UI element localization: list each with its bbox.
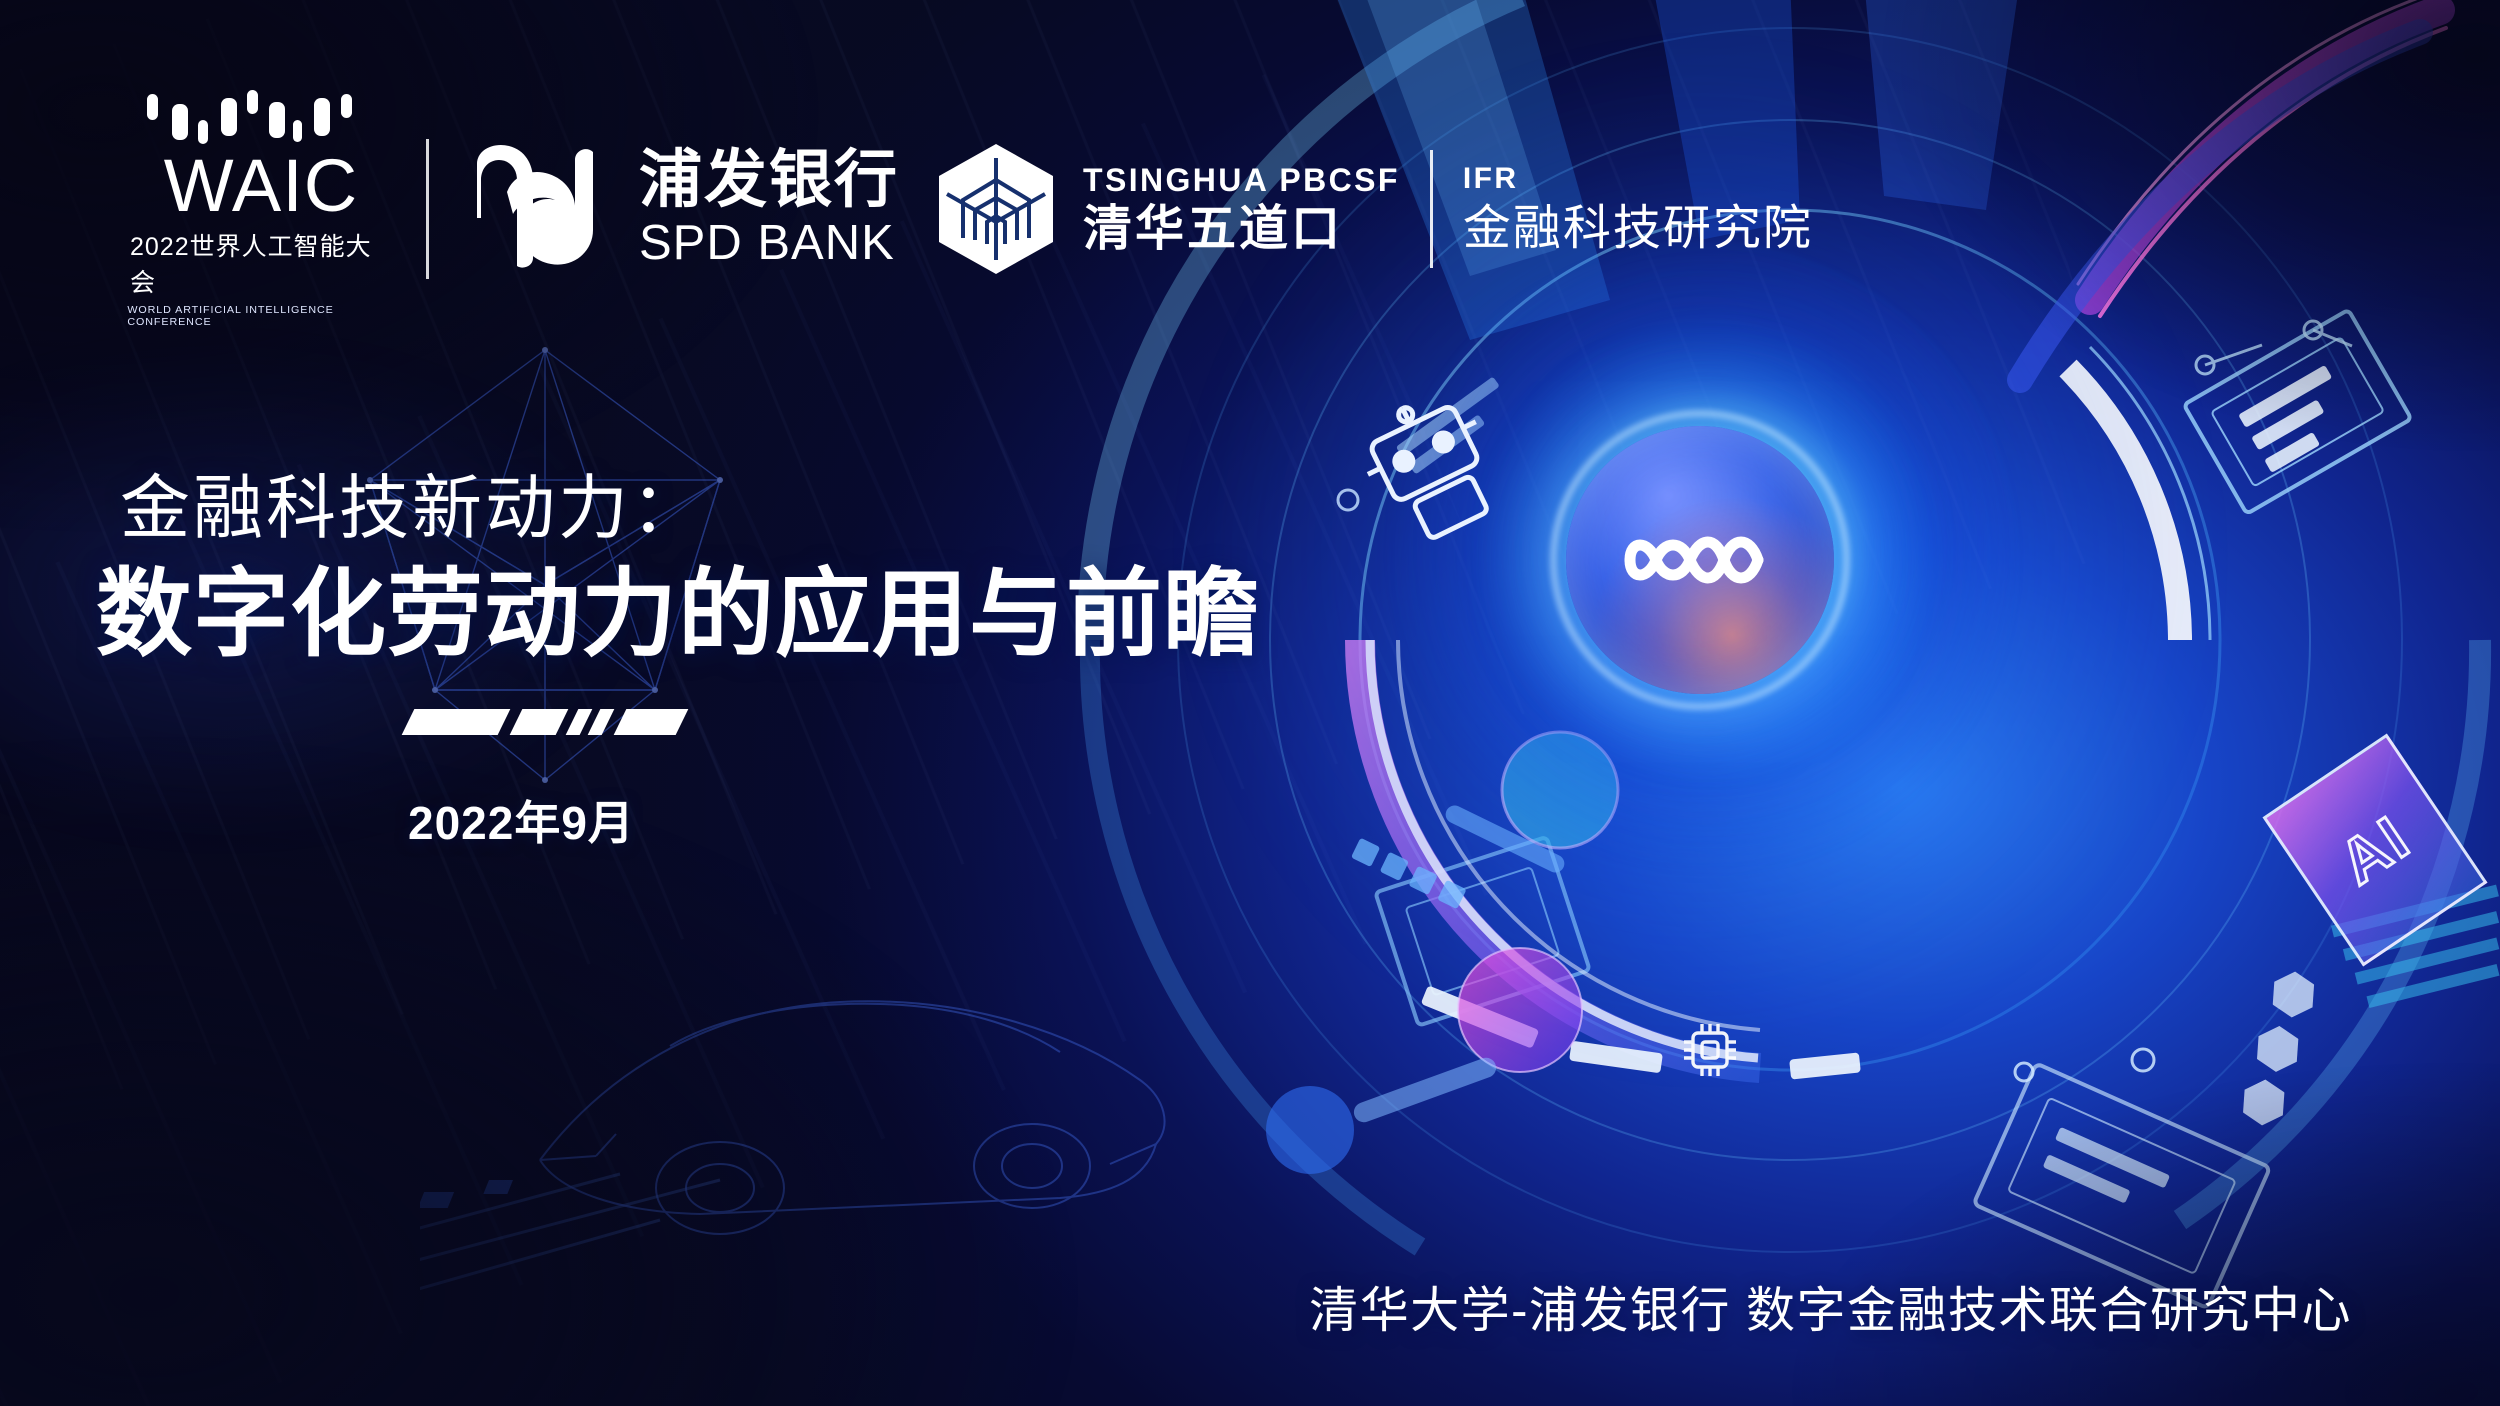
spd-bank-mark-icon	[463, 134, 613, 284]
dash-accent-bars	[408, 709, 678, 743]
footer-organization: 清华大学-浦发银行 数字金融技术联合研究中心	[1309, 1271, 2352, 1342]
waic-english-label: WORLD ARTIFICIAL INTELLIGENCE CONFERENCE	[127, 304, 394, 328]
slide-date: 2022年9月	[408, 787, 1260, 853]
presentation-slide: AI WAIC 2022世界人工智能大会	[0, 0, 2500, 1406]
logo-divider-2	[1430, 150, 1433, 268]
waic-logo: WAIC 2022世界人工智能大会 WORLD ARTIFICIAL INTEL…	[130, 90, 392, 328]
ifr-english-label: IFR	[1463, 164, 1813, 194]
title-block: 金融科技新动力： 数字化劳动力的应用与前瞻 2022年9月	[120, 470, 1260, 853]
logo-bar: WAIC 2022世界人工智能大会 WORLD ARTIFICIAL INTEL…	[130, 90, 1813, 328]
pbcsf-chinese-label: 清华五道口	[1083, 205, 1400, 254]
pbcsf-english-label: TSINGHUA PBCSF	[1083, 164, 1400, 196]
ifr-chinese-label: 金融科技研究院	[1463, 205, 1813, 253]
waic-wordmark: WAIC	[164, 154, 358, 218]
tsinghua-pbcsf-hexagon-icon	[935, 142, 1057, 276]
tsinghua-pbcsf-logo: TSINGHUA PBCSF 清华五道口	[935, 142, 1400, 276]
waic-equalizer-icon	[141, 90, 381, 148]
logo-divider-1	[426, 139, 429, 279]
spd-chinese-label: 浦发银行	[639, 149, 899, 212]
waic-chinese-label: 2022世界人工智能大会	[130, 227, 392, 299]
spd-english-label: SPD BANK	[639, 219, 899, 268]
spd-bank-logo: 浦发银行 SPD BANK	[463, 134, 899, 284]
slide-title: 数字化劳动力的应用与前瞻	[96, 561, 1260, 669]
ifr-logo: IFR 金融科技研究院	[1463, 164, 1813, 253]
slide-subtitle: 金融科技新动力：	[120, 470, 1260, 547]
